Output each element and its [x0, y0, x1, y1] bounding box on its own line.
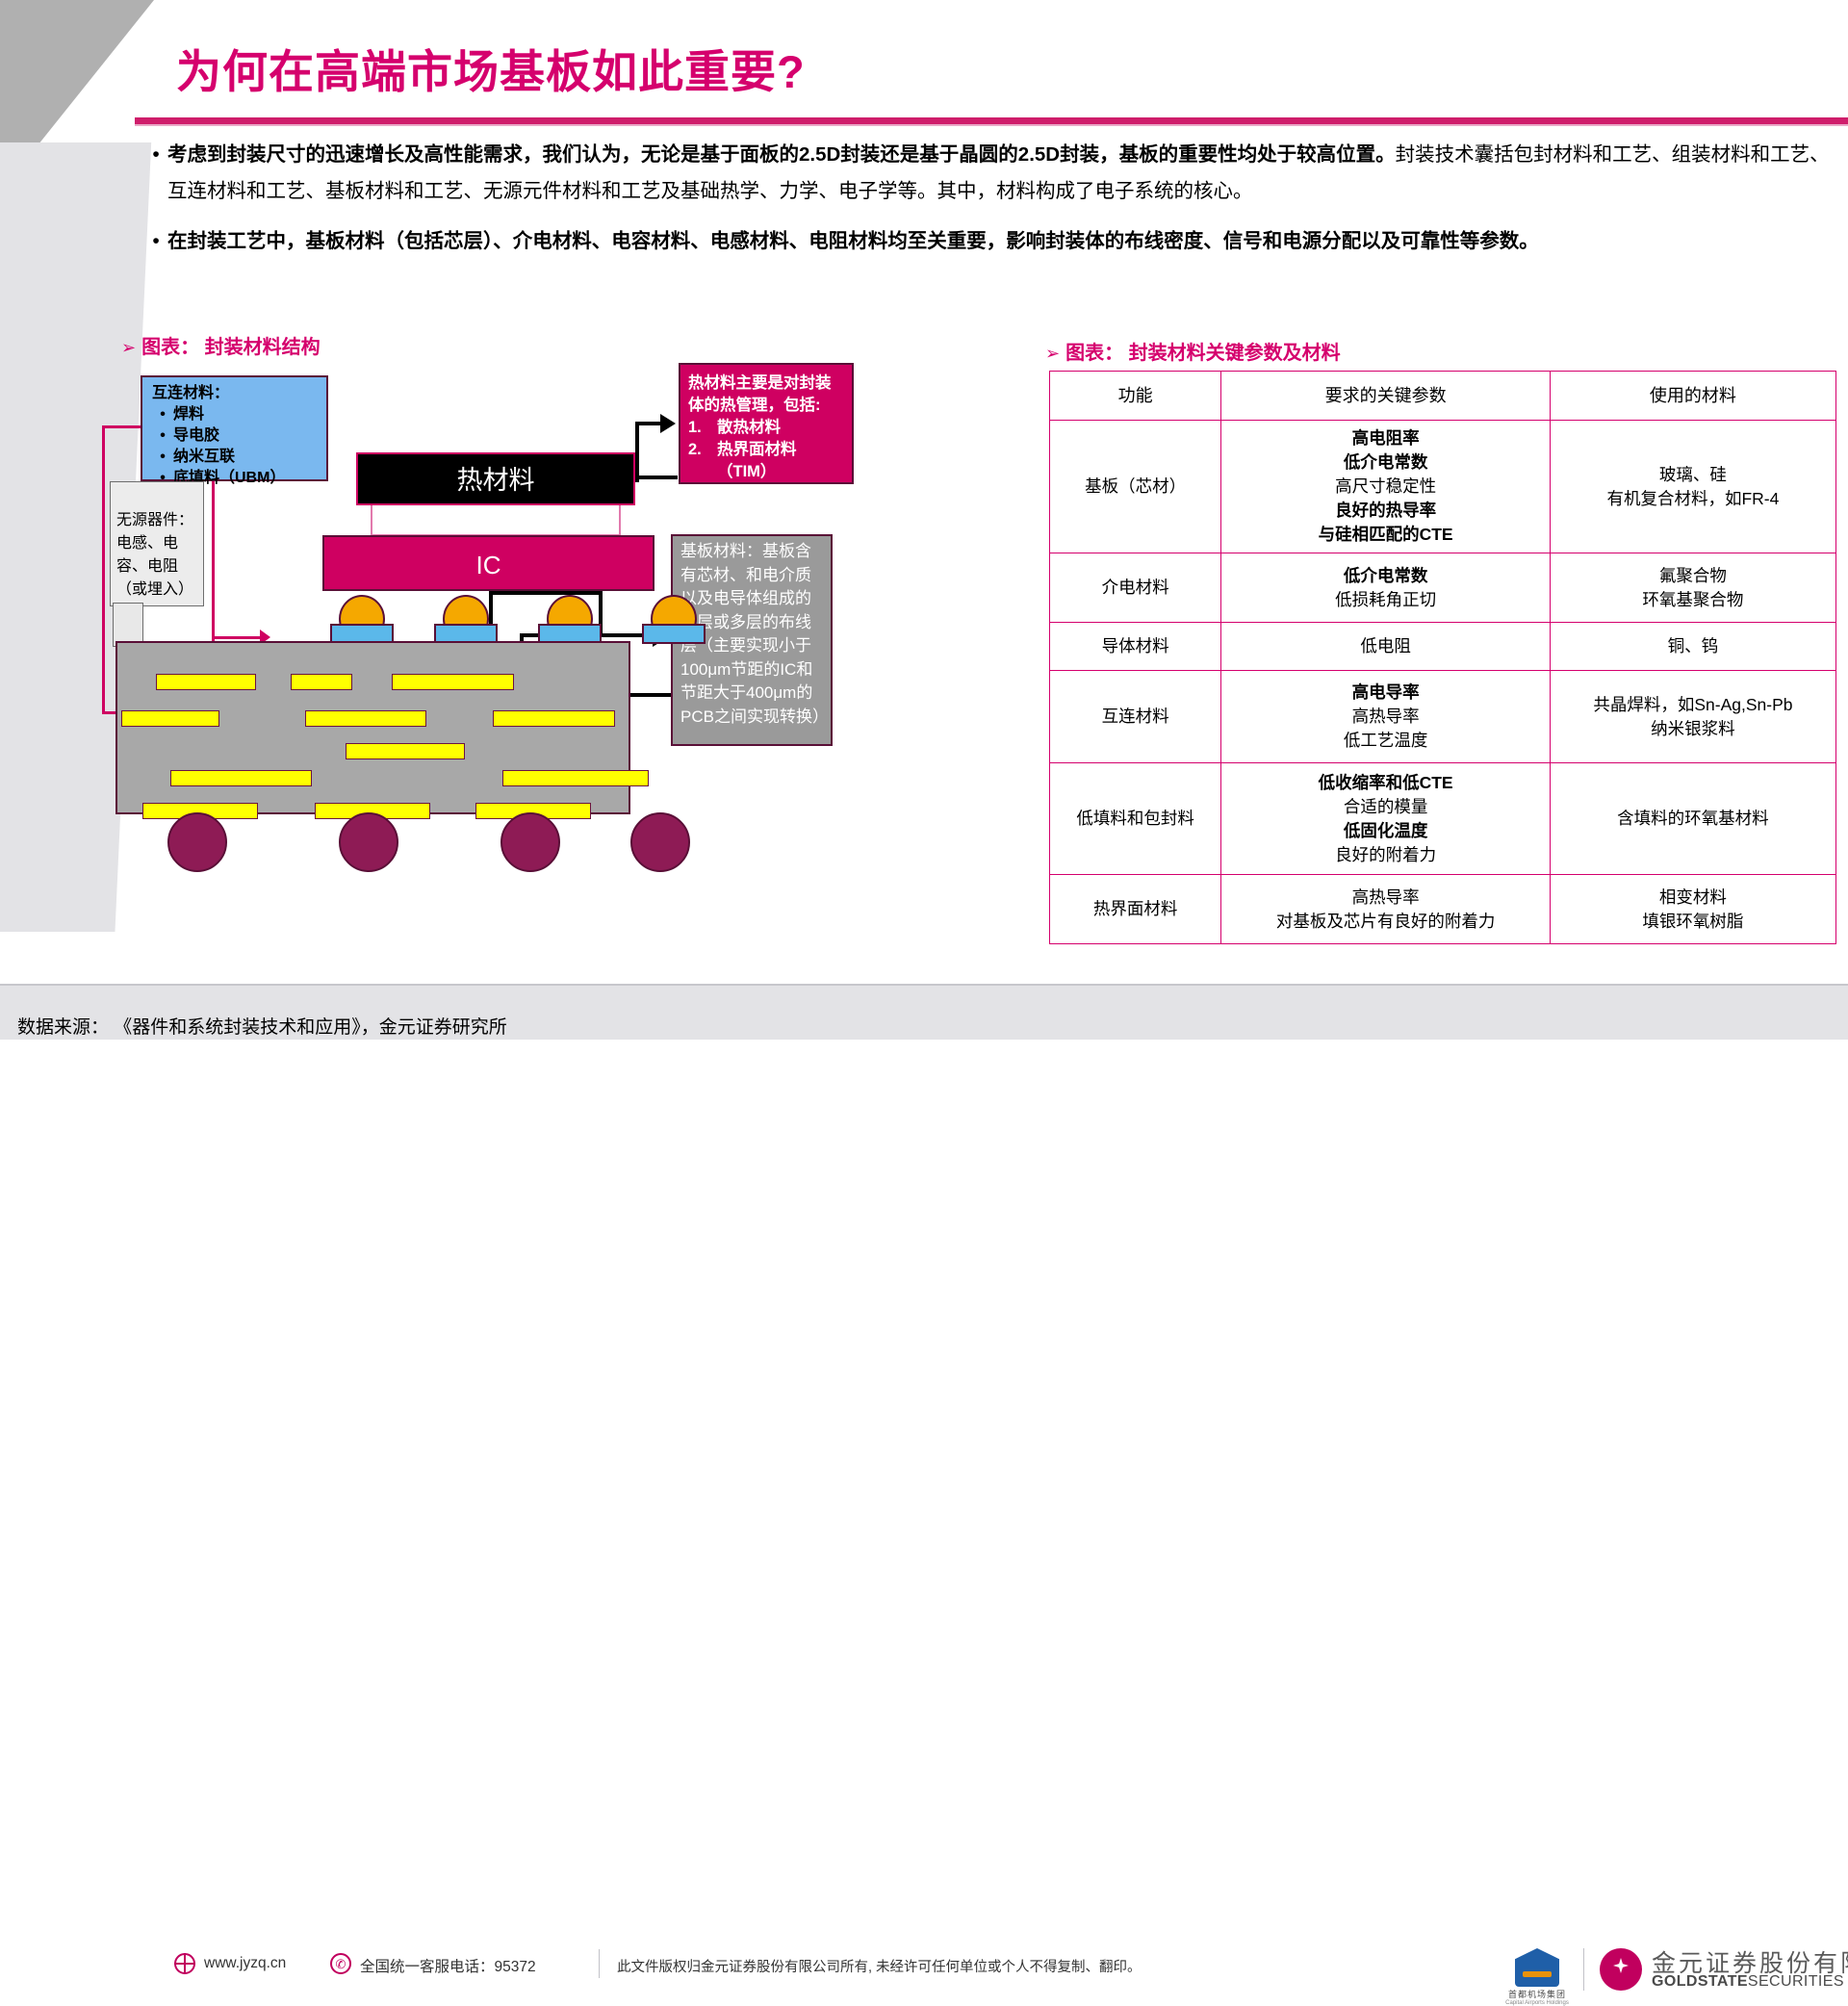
- cell-materials: 共晶焊料，如Sn-Ag,Sn-Pb 纳米银浆料: [1550, 671, 1835, 763]
- material-line: 环氧基聚合物: [1554, 588, 1832, 612]
- interconnect-materials-box: 互连材料： •焊料 •导电胶 •纳米互联 •底填料（UBM）: [141, 375, 328, 481]
- cell-materials: 氟聚合物 环氧基聚合物: [1550, 553, 1835, 623]
- chevron-right-icon: ➢: [121, 338, 136, 357]
- goldstate-en-bold: GOLDSTATE: [1652, 1973, 1748, 1990]
- table-row: 热界面材料 高热导率 对基板及芯片有良好的附着力 相变材料 填银环氧树脂: [1050, 875, 1836, 944]
- thermal-note-line: 体的热管理，包括:: [688, 395, 852, 417]
- right-section-heading: ➢图表： 封装材料关键参数及材料: [1045, 337, 1341, 365]
- material-line: 玻璃、硅: [1554, 463, 1832, 487]
- connector-black-seg: [635, 476, 678, 479]
- passive-line: （或埋入）: [116, 579, 199, 602]
- passive-line: 容、电阻: [116, 555, 199, 579]
- param-line: 低收缩率和低CTE: [1225, 771, 1546, 795]
- passive-line: 无源器件：: [116, 509, 199, 532]
- cell-function: 互连材料: [1050, 671, 1221, 763]
- thermal-note-index: 2.: [688, 439, 717, 461]
- ic-die-block: IC: [322, 535, 654, 591]
- materials-parameters-table: 功能 要求的关键参数 使用的材料 基板（芯材） 高电阻率 低介电常数 高尺寸稳定…: [1049, 371, 1836, 944]
- goldstate-en-rest: SECURITIES CO.,LTD.: [1748, 1973, 1848, 1990]
- param-line: 合适的模量: [1225, 795, 1546, 819]
- cell-params: 高热导率 对基板及芯片有良好的附着力: [1221, 875, 1551, 944]
- bullet-glyph: •: [152, 404, 173, 425]
- routing-trace: [291, 674, 352, 690]
- bullet-text-2: 在封装工艺中，基板材料（包括芯层）、介电材料、电容材料、电感材料、电阻材料均至关…: [167, 223, 1838, 260]
- bullet-text-1: 考虑到封装尺寸的迅速增长及高性能需求，我们认为，无论是基于面板的2.5D封装还是…: [167, 137, 1838, 210]
- footer-website[interactable]: www.jyzq.cn: [204, 1955, 286, 1972]
- routing-trace: [156, 674, 256, 690]
- globe-icon: [174, 1953, 195, 1974]
- bond-pad: [642, 624, 706, 644]
- cell-function: 介电材料: [1050, 553, 1221, 623]
- table-header-params: 要求的关键参数: [1221, 372, 1551, 421]
- cell-materials: 含填料的环氧基材料: [1550, 763, 1835, 875]
- bga-ball: [339, 812, 398, 872]
- cell-materials: 相变材料 填银环氧树脂: [1550, 875, 1835, 944]
- interconnect-item-label: 导电胶: [173, 425, 219, 447]
- param-line: 低固化温度: [1225, 819, 1546, 843]
- interconnect-item-label: 纳米互联: [173, 447, 235, 468]
- material-line: 共晶焊料，如Sn-Ag,Sn-Pb: [1554, 693, 1832, 717]
- connector-pink-seg: [102, 425, 144, 428]
- routing-trace: [493, 710, 615, 727]
- connector-pink-seg: [212, 481, 215, 635]
- goldstate-en-name: GOLDSTATESECURITIES CO.,LTD.: [1652, 1973, 1848, 1991]
- tim-gap-block: [371, 505, 621, 536]
- capital-airports-logo: 首都机场集团 Capital Airports Holdings: [1501, 1948, 1574, 2006]
- connector-pink-seg: [212, 636, 262, 639]
- cell-params: 高电导率 高热导率 低工艺温度: [1221, 671, 1551, 763]
- bullet-glyph: •: [152, 447, 173, 468]
- table-row: 互连材料 高电导率 高热导率 低工艺温度 共晶焊料，如Sn-Ag,Sn-Pb 纳…: [1050, 671, 1836, 763]
- title-rule-thin: [135, 124, 1848, 126]
- material-line: 纳米银浆料: [1554, 717, 1832, 741]
- cell-params: 低收缩率和低CTE 合适的模量 低固化温度 良好的附着力: [1221, 763, 1551, 875]
- goldstate-mark-icon: [1600, 1948, 1642, 1991]
- param-line: 对基板及芯片有良好的附着力: [1225, 910, 1546, 934]
- table-row: 低填料和包封料 低收缩率和低CTE 合适的模量 低固化温度 良好的附着力 含填料…: [1050, 763, 1836, 875]
- param-line: 低介电常数: [1225, 450, 1546, 475]
- param-line: 良好的附着力: [1225, 843, 1546, 867]
- bga-ball: [630, 812, 690, 872]
- left-section-label: 图表： 封装材料结构: [141, 337, 321, 358]
- footer-hotline: 全国统一客服电话：95372: [360, 1955, 536, 1976]
- param-line: 低电阻: [1225, 634, 1546, 658]
- cell-params: 高电阻率 低介电常数 高尺寸稳定性 良好的热导率 与硅相匹配的CTE: [1221, 421, 1551, 553]
- right-section-label: 图表： 封装材料关键参数及材料: [1065, 343, 1341, 364]
- param-line: 高热导率: [1225, 705, 1546, 729]
- thermal-note-text: 散热材料: [717, 417, 781, 439]
- bullet-item-2: • 在封装工艺中，基板材料（包括芯层）、介电材料、电容材料、电感材料、电阻材料均…: [144, 223, 1838, 260]
- thermal-note-line: 热材料主要是对封装: [688, 373, 852, 395]
- chevron-right-icon: ➢: [1045, 344, 1060, 363]
- routing-trace: [392, 674, 514, 690]
- param-line: 高电阻率: [1225, 426, 1546, 450]
- cell-params: 低电阻: [1221, 623, 1551, 671]
- thermal-note-item: 2.热界面材料: [688, 439, 852, 461]
- bullet-item-1: • 考虑到封装尺寸的迅速增长及高性能需求，我们认为，无论是基于面板的2.5D封装…: [144, 137, 1838, 210]
- capital-airports-en: Capital Airports Holdings: [1501, 2000, 1574, 2006]
- bullet-list: • 考虑到封装尺寸的迅速增长及高性能需求，我们认为，无论是基于面板的2.5D封装…: [144, 137, 1838, 268]
- cell-materials: 玻璃、硅 有机复合材料，如FR-4: [1550, 421, 1835, 553]
- bga-ball: [167, 812, 227, 872]
- bullet-2-strong: 在封装工艺中，基板材料（包括芯层）、介电材料、电容材料、电感材料、电阻材料均至关…: [167, 230, 1539, 252]
- logo-divider: [1583, 1948, 1584, 1991]
- material-line: 相变材料: [1554, 886, 1832, 910]
- capital-airports-cn: 首都机场集团: [1501, 1988, 1574, 2000]
- title-rule: [135, 117, 1848, 124]
- interconnect-title: 互连材料：: [152, 383, 326, 404]
- param-line: 高热导率: [1225, 886, 1546, 910]
- passive-line: 电感、电: [116, 532, 199, 555]
- routing-trace: [305, 710, 426, 727]
- capital-airports-badge-icon: [1515, 1948, 1559, 1987]
- routing-trace: [121, 710, 219, 727]
- thermal-material-block: 热材料: [356, 452, 635, 505]
- bullet-glyph: •: [152, 425, 173, 447]
- material-line: 填银环氧树脂: [1554, 910, 1832, 934]
- thermal-note-item: （TIM）: [688, 461, 852, 483]
- footer-divider: [599, 1949, 600, 1978]
- table-header-materials: 使用的材料: [1550, 372, 1835, 421]
- param-line: 低工艺温度: [1225, 729, 1546, 753]
- interconnect-item-label: 焊料: [173, 404, 204, 425]
- substrate-body: [115, 641, 630, 814]
- bullet-glyph: •: [144, 137, 167, 210]
- passive-devices-box: 无源器件： 电感、电 容、电阻 （或埋入）: [110, 481, 204, 606]
- material-line: 铜、钨: [1554, 634, 1832, 658]
- param-line: 高尺寸稳定性: [1225, 475, 1546, 499]
- param-line: 低介电常数: [1225, 564, 1546, 588]
- table-header-row: 功能 要求的关键参数 使用的材料: [1050, 372, 1836, 421]
- bullet-1-strong: 考虑到封装尺寸的迅速增长及高性能需求，我们认为，无论是基于面板的2.5D封装还是…: [167, 143, 1396, 166]
- page-title: 为何在高端市场基板如此重要?: [176, 35, 806, 101]
- table-row: 基板（芯材） 高电阻率 低介电常数 高尺寸稳定性 良好的热导率 与硅相匹配的CT…: [1050, 421, 1836, 553]
- connector-pink-seg: [102, 425, 105, 714]
- routing-trace: [502, 770, 649, 786]
- thermal-note-index: 1.: [688, 417, 717, 439]
- cell-function: 低填料和包封料: [1050, 763, 1221, 875]
- table-row: 导体材料 低电阻 铜、钨: [1050, 623, 1836, 671]
- connector-black-seg: [635, 424, 639, 479]
- cell-function: 基板（芯材）: [1050, 421, 1221, 553]
- interconnect-item: •焊料: [152, 404, 326, 425]
- cell-function: 导体材料: [1050, 623, 1221, 671]
- thermal-note-index: [688, 461, 717, 483]
- material-line: 含填料的环氧基材料: [1554, 807, 1832, 831]
- material-line: 有机复合材料，如FR-4: [1554, 487, 1832, 511]
- thermal-materials-note: 热材料主要是对封装 体的热管理，包括: 1.散热材料 2.热界面材料 （TIM）: [679, 363, 854, 484]
- connector-black-seg: [489, 591, 603, 595]
- cell-materials: 铜、钨: [1550, 623, 1835, 671]
- param-line: 与硅相匹配的CTE: [1225, 523, 1546, 547]
- cell-params: 低介电常数 低损耗角正切: [1221, 553, 1551, 623]
- table-row: 介电材料 低介电常数 低损耗角正切 氟聚合物 环氧基聚合物: [1050, 553, 1836, 623]
- material-line: 氟聚合物: [1554, 564, 1832, 588]
- param-line: 高电导率: [1225, 681, 1546, 705]
- decor-corner-dark: [0, 0, 154, 144]
- left-section-heading: ➢图表： 封装材料结构: [121, 331, 321, 359]
- bga-ball: [500, 812, 560, 872]
- thermal-note-item: 1.散热材料: [688, 417, 852, 439]
- param-line: 良好的热导率: [1225, 499, 1546, 523]
- arrowhead-black: [660, 414, 676, 433]
- thermal-note-text: （TIM）: [717, 461, 776, 483]
- bullet-glyph: •: [144, 223, 167, 260]
- routing-trace: [170, 770, 312, 786]
- param-line: 低损耗角正切: [1225, 588, 1546, 612]
- table-header-function: 功能: [1050, 372, 1221, 421]
- thermal-note-text: 热界面材料: [717, 439, 797, 461]
- source-note: 数据来源： 《器件和系统封装技术和应用》，金元证券研究所: [17, 1013, 507, 1039]
- routing-trace: [346, 743, 465, 759]
- phone-icon: ✆: [330, 1953, 351, 1974]
- cell-function: 热界面材料: [1050, 875, 1221, 944]
- package-structure-diagram: 互连材料： •焊料 •导电胶 •纳米互联 •底填料（UBM） 无源器件： 电感、…: [115, 356, 962, 972]
- footer-copyright: 此文件版权归金元证券股份有限公司所有, 未经许可任何单位或个人不得复制、翻印。: [617, 1956, 1142, 1976]
- interconnect-item: •纳米互联: [152, 447, 326, 468]
- interconnect-item: •导电胶: [152, 425, 326, 447]
- slide-root: 为何在高端市场基板如此重要? • 考虑到封装尺寸的迅速增长及高性能需求，我们认为…: [0, 0, 1848, 1040]
